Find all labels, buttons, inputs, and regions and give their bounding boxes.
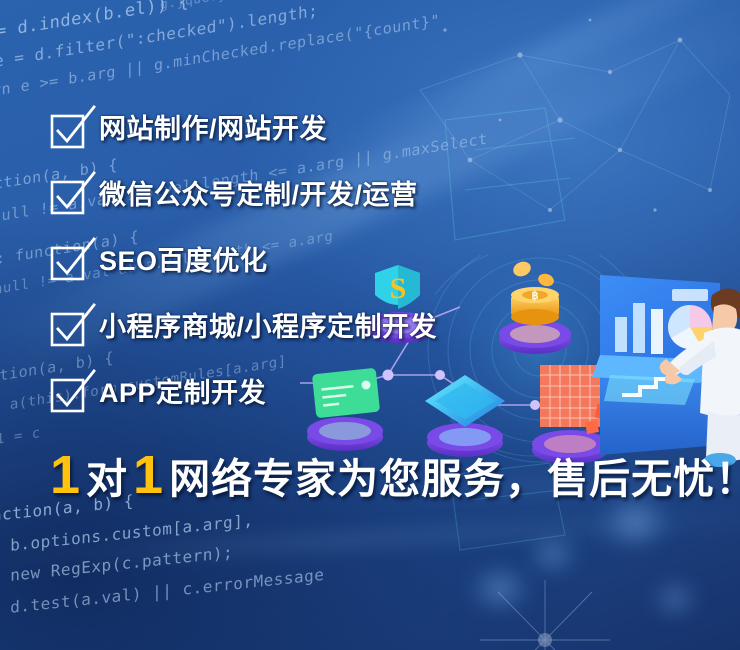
checklist-item-seo[interactable]: SEO百度优化 bbox=[52, 228, 692, 294]
promo-banner: g.jqueryToolTip("input[type=checkbox][na… bbox=[0, 0, 740, 650]
star-flare-decoration bbox=[480, 580, 610, 650]
checklist-item-label: 微信公众号定制/开发/运营 bbox=[99, 182, 418, 209]
bokeh-light-decoration bbox=[470, 570, 530, 608]
checklist-item-wechat[interactable]: 微信公众号定制/开发/运营 bbox=[52, 162, 692, 228]
code-line: rn e >= b.arg || g.minChecked.replace("{… bbox=[0, 11, 440, 100]
checklist-item-miniprogram[interactable]: 小程序商城/小程序定制开发 bbox=[52, 294, 692, 360]
checkbox-checked-icon bbox=[52, 114, 83, 145]
bokeh-light-decoration bbox=[600, 500, 670, 544]
headline-tail-text: 网络专家为您服务，售后无忧！ bbox=[169, 459, 740, 500]
checkbox-checked-icon bbox=[52, 246, 83, 277]
code-line: n d.test(a.val) || c.errorMessage bbox=[0, 565, 324, 619]
checklist-item-label: APP定制开发 bbox=[99, 380, 266, 407]
checklist-item-label: 小程序商城/小程序定制开发 bbox=[99, 314, 437, 341]
bokeh-light-decoration bbox=[655, 585, 695, 613]
checklist-item-app[interactable]: APP定制开发 bbox=[52, 360, 692, 426]
code-line: = d.index(b.el)) { bbox=[0, 0, 189, 42]
code-line: = b.options.custom[a.arg], bbox=[0, 510, 253, 557]
checklist-item-label: SEO百度优化 bbox=[99, 248, 268, 275]
checklist-item-label: 网站制作/网站开发 bbox=[99, 116, 327, 143]
headline-number-first: 1 bbox=[50, 448, 80, 502]
code-line: = new RegExp(c.pattern); bbox=[0, 542, 233, 587]
code-line: e = d.filter(":checked").length; bbox=[0, 1, 318, 71]
checklist-item-website[interactable]: 网站制作/网站开发 bbox=[52, 96, 692, 162]
service-checklist: 网站制作/网站开发 微信公众号定制/开发/运营 SEO百度优化 bbox=[52, 96, 692, 426]
headline-slogan: 1 对 1 网络专家为您服务，售后无忧！ bbox=[50, 448, 740, 502]
checkbox-checked-icon bbox=[52, 378, 83, 409]
code-line: g.jqueryToolTip("input[type=checkbox][na… bbox=[160, 0, 526, 13]
headline-number-second: 1 bbox=[133, 448, 163, 502]
light-beam-decoration bbox=[0, 508, 740, 569]
headline-middle-word: 对 bbox=[86, 459, 127, 500]
code-line: 1 = c bbox=[0, 425, 41, 448]
checkbox-checked-icon bbox=[52, 180, 83, 211]
checkbox-checked-icon bbox=[52, 312, 83, 343]
bokeh-light-decoration bbox=[530, 540, 576, 570]
